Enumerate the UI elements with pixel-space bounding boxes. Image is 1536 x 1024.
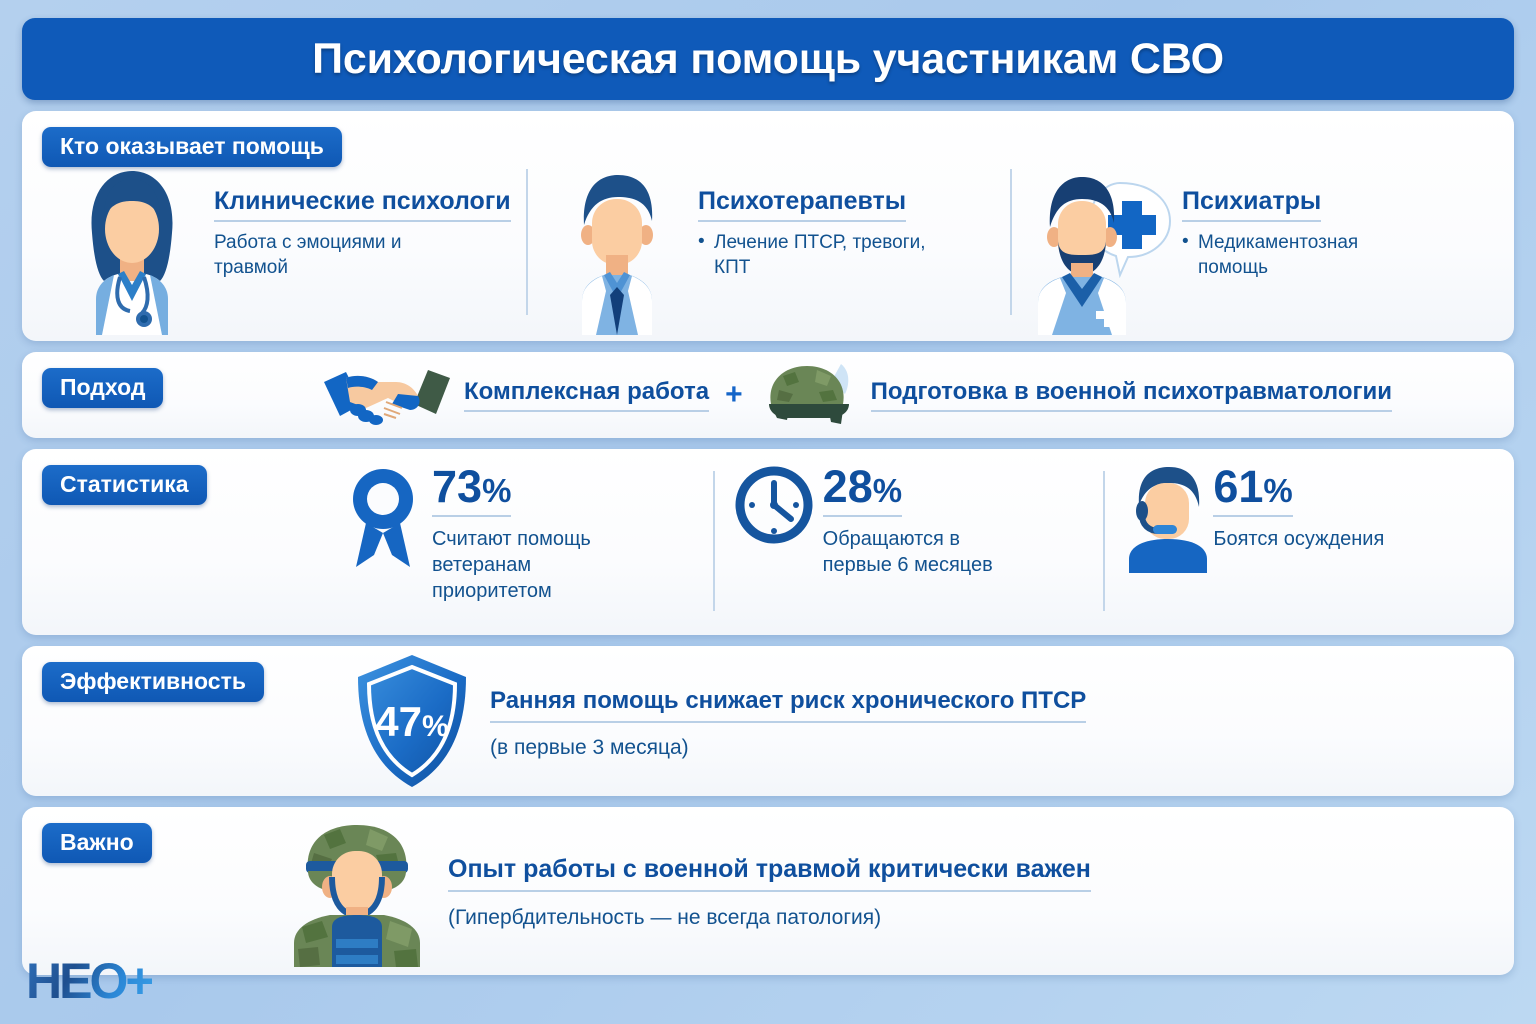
stat-value: 28% [823, 465, 902, 517]
provider-text-block: Психотерапевты Лечение ПТСР, тревоги, КП… [698, 159, 928, 280]
stat-text-block: 28% Обращаются в первые 6 месяцев [823, 463, 1028, 578]
provider-text-block: Психиатры Медикаментозная помощь [1182, 159, 1412, 280]
bearded-psychiatrist-icon [1024, 159, 1176, 335]
handshake-icon [322, 360, 452, 430]
provider-psychiatrists: Психиатры Медикаментозная помощь [1010, 159, 1494, 335]
providers-row: Клинические психологи Работа с эмоциями … [42, 159, 1494, 335]
clock-icon [735, 463, 813, 573]
stat-text-block: 73% Считают помощь ветеранам приоритетом [432, 463, 637, 604]
important-row: Опыт работы с военной травмой критически… [282, 807, 1494, 975]
person-headset-icon [1125, 463, 1203, 573]
soldier-icon [282, 815, 432, 967]
stat-item-28: 28% Обращаются в первые 6 месяцев [713, 463, 1104, 627]
shield-value: 47 [375, 698, 422, 745]
brand-logo: НЕО+ [26, 956, 152, 1006]
provider-title: Клинические психологи [214, 187, 511, 222]
section-important: Важно [22, 807, 1514, 975]
military-helmet-icon [759, 360, 859, 430]
provider-subtitle: Работа с эмоциями и травмой [214, 231, 444, 280]
section-providers: Кто оказывает помощь [22, 111, 1514, 341]
important-text-block: Опыт работы с военной травмой критически… [448, 853, 1091, 930]
statistics-row: 73% Считают помощь ветеранам приоритетом [322, 463, 1494, 627]
provider-clinical-psychologists: Клинические психологи Работа с эмоциями … [42, 159, 526, 335]
infographic-page: Психологическая помощь участникам СВО Кт… [0, 0, 1536, 1024]
section-approach: Подход Комплексная работа + [22, 352, 1514, 438]
approach-left-text: Комплексная работа [464, 378, 709, 412]
stat-value: 61% [1213, 465, 1292, 517]
award-ribbon-icon [344, 463, 422, 573]
badge-important: Важно [42, 823, 152, 863]
logo-text: НЕО [26, 956, 125, 1006]
approach-plus-sign: + [721, 378, 747, 412]
stat-label: Боятся осуждения [1213, 526, 1384, 552]
provider-subtitle: Медикаментозная помощь [1182, 231, 1412, 280]
effectiveness-main-text: Ранняя помощь снижает риск хронического … [490, 687, 1086, 723]
provider-psychotherapists: Психотерапевты Лечение ПТСР, тревоги, КП… [526, 159, 1010, 335]
provider-text-block: Клинические психологи Работа с эмоциями … [214, 159, 511, 280]
important-note-text: (Гипербдительность — не всегда патология… [448, 906, 1091, 930]
section-effectiveness: Эффективность 47% [22, 646, 1514, 796]
page-title: Психологическая помощь участникам СВО [312, 35, 1224, 84]
shield-unit: % [422, 710, 449, 743]
shield-icon: 47% [352, 651, 472, 791]
provider-title: Психиатры [1182, 187, 1321, 222]
badge-approach: Подход [42, 368, 163, 408]
provider-subtitle: Лечение ПТСР, тревоги, КПТ [698, 231, 928, 280]
header-bar: Психологическая помощь участникам СВО [22, 18, 1514, 100]
badge-effectiveness: Эффективность [42, 662, 264, 702]
approach-row: Комплексная работа + Подготовка в военно… [322, 352, 1494, 438]
stat-item-73: 73% Считают помощь ветеранам приоритетом [322, 463, 713, 627]
section-statistics: Статистика 73% Считают помощь ветеранам … [22, 449, 1514, 635]
effectiveness-note-text: (в первые 3 месяца) [490, 736, 1086, 760]
logo-plus: + [125, 956, 151, 1006]
stat-text-block: 61% Боятся осуждения [1213, 463, 1384, 552]
effectiveness-text-block: Ранняя помощь снижает риск хронического … [490, 683, 1086, 760]
stat-label: Считают помощь ветеранам приоритетом [432, 526, 637, 604]
stat-label: Обращаются в первые 6 месяцев [823, 526, 1028, 578]
important-main-text: Опыт работы с военной травмой критически… [448, 855, 1091, 892]
stat-item-61: 61% Боятся осуждения [1103, 463, 1494, 627]
badge-statistics: Статистика [42, 465, 207, 505]
female-clinical-psychologist-icon [56, 159, 208, 335]
male-psychotherapist-icon [540, 159, 692, 335]
stat-value: 73% [432, 465, 511, 517]
effectiveness-row: 47% Ранняя помощь снижает риск хроническ… [352, 646, 1494, 796]
provider-title: Психотерапевты [698, 187, 906, 222]
approach-right-text: Подготовка в военной психотравматологии [871, 378, 1392, 412]
